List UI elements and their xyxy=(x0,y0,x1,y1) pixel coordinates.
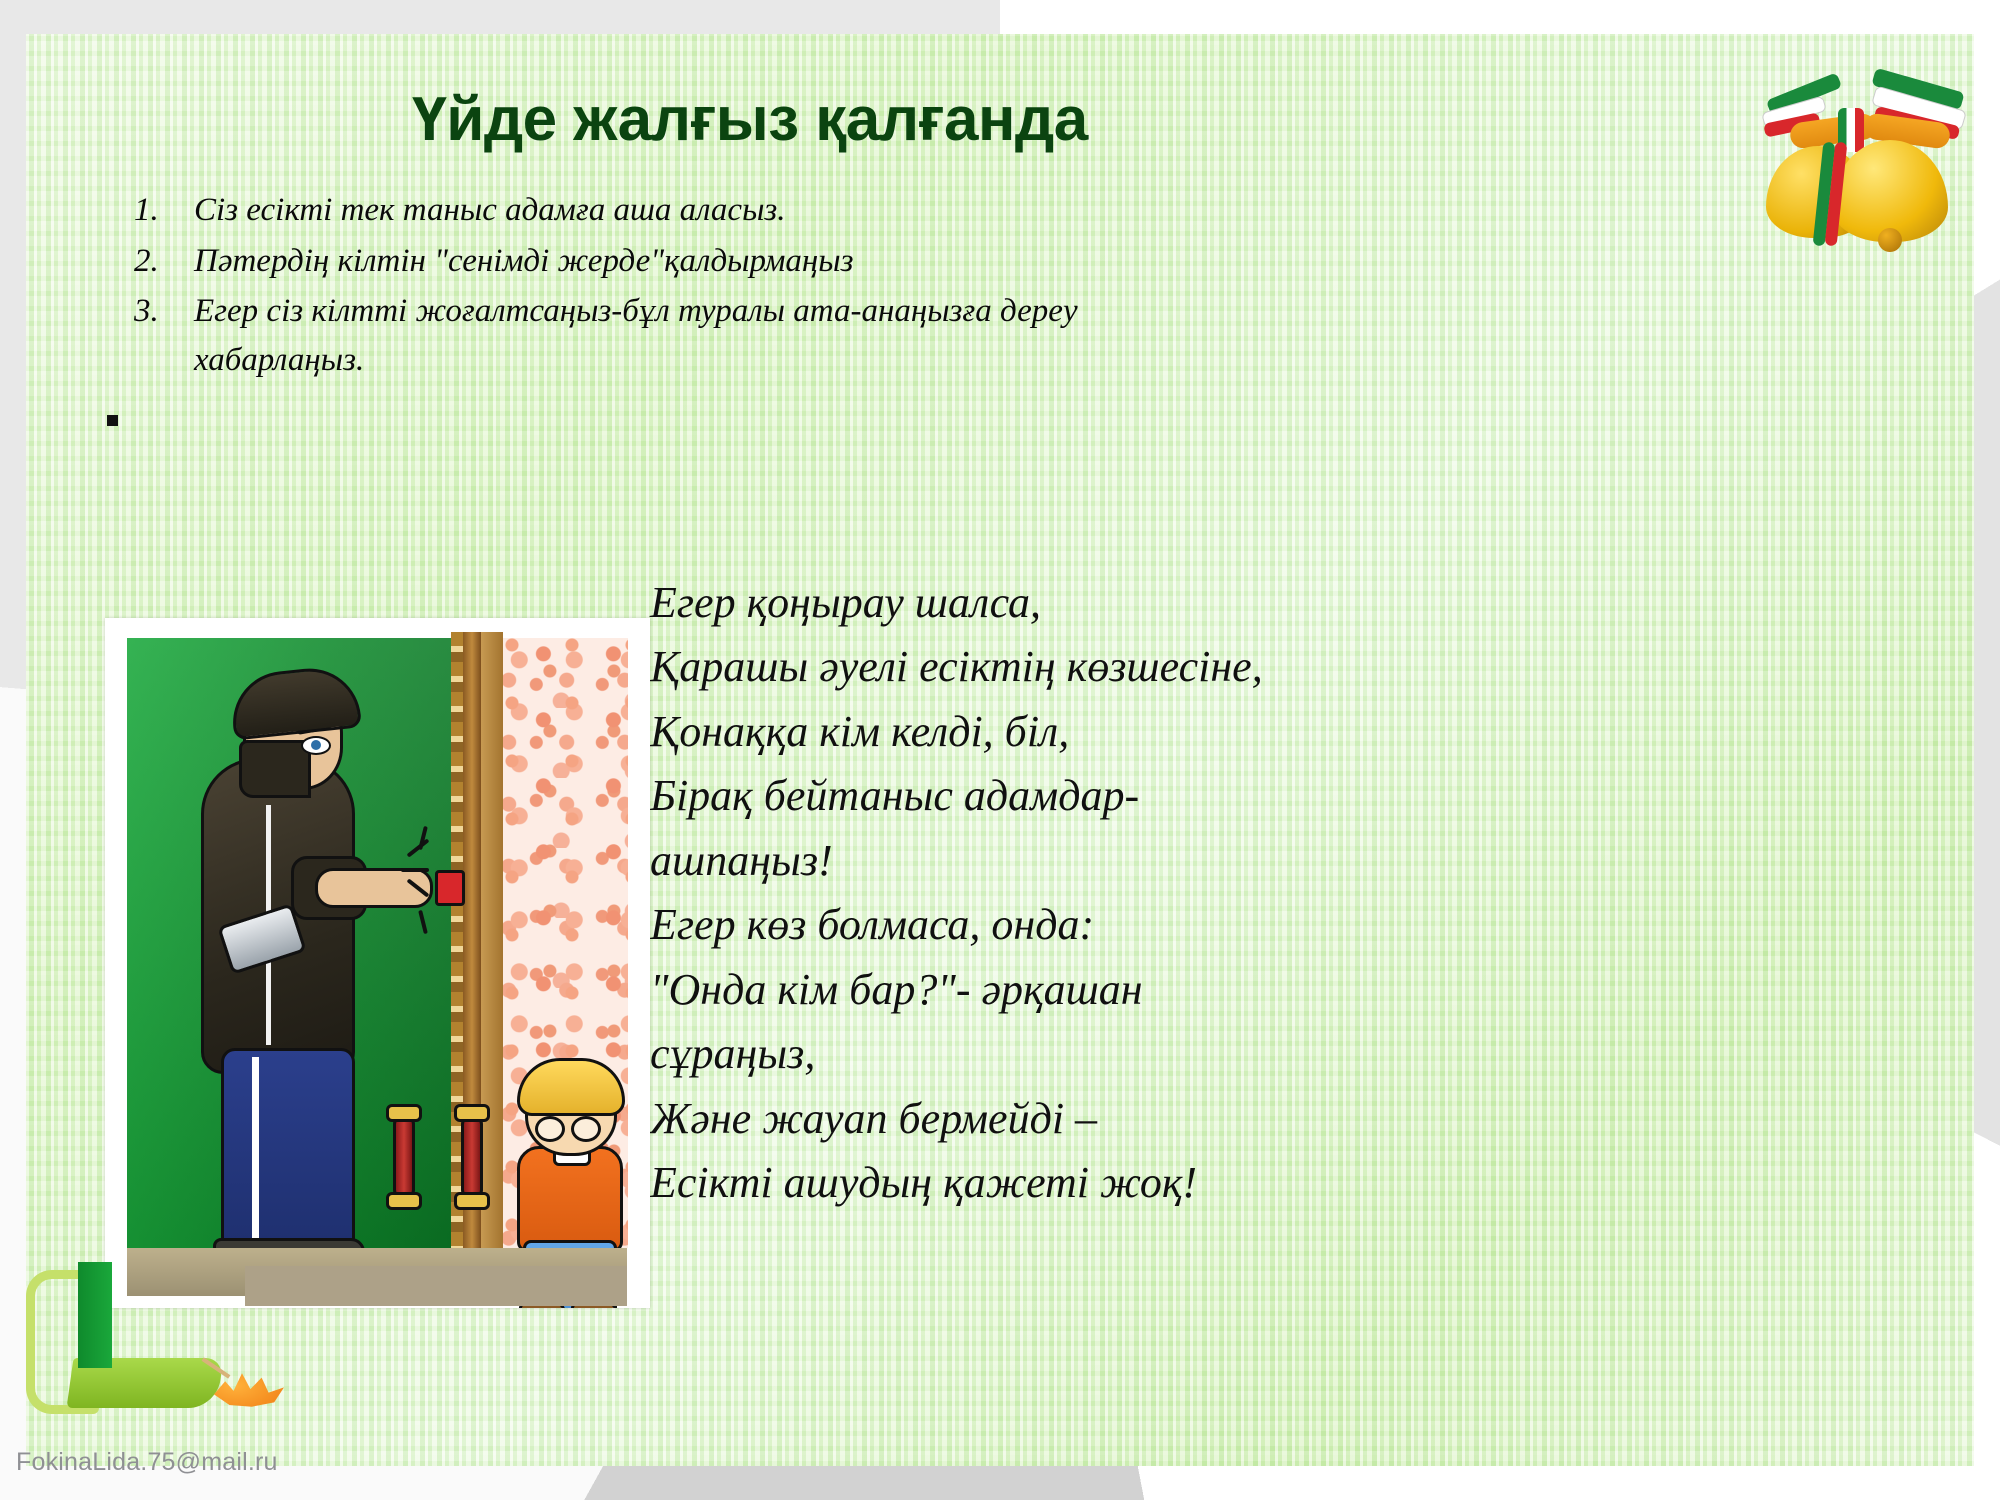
list-item-number: 1. xyxy=(128,186,194,235)
stranger-at-door-illustration xyxy=(105,618,650,1308)
rules-list: 1. Сіз есікті тек таныс адамға аша аласы… xyxy=(128,186,1128,386)
list-item-text: Сіз есікті тек таныс адамға аша аласыз. xyxy=(194,186,1128,235)
poem-line: ашпаңыз! xyxy=(650,830,1450,892)
list-item: 2. Пәтердің кілтін "сенімді жерде"қалдыр… xyxy=(128,237,1128,286)
handle-bracket xyxy=(454,1104,490,1122)
door-handle-outer xyxy=(393,1116,415,1198)
list-item: 1. Сіз есікті тек таныс адамға аша аласы… xyxy=(128,186,1128,235)
slide-canvas: Үйде жалғыз қалғанда 1. Сіз есікті тек т… xyxy=(0,0,2000,1500)
page-title: Үйде жалғыз қалғанда xyxy=(300,84,1200,155)
boy-hair xyxy=(517,1058,625,1116)
poem-text: Егер қоңырау шалса, Қарашы әуелі есіктің… xyxy=(650,572,1450,1217)
handle-bracket xyxy=(386,1104,422,1122)
trouser-stripe xyxy=(252,1057,259,1249)
bullet-dot-marker xyxy=(107,415,118,426)
poem-line: "Онда кім бар?"- әрқашан xyxy=(650,959,1450,1021)
leaf-stem xyxy=(202,1357,231,1378)
book-spine xyxy=(78,1262,112,1368)
poem-line: Қонаққа кім келді, біл, xyxy=(650,701,1450,763)
list-item-number: 3. xyxy=(128,287,194,336)
school-bells-clipart xyxy=(1760,42,1986,257)
floor-step-lower xyxy=(245,1266,627,1306)
poem-line: Есікті ашудың қажеті жоқ! xyxy=(650,1152,1450,1214)
stranger-eye xyxy=(301,736,331,755)
poem-line: Егер қоңырау шалса, xyxy=(650,572,1450,634)
poem-line: Егер көз болмаса, онда: xyxy=(650,894,1450,956)
handle-bracket xyxy=(454,1192,490,1210)
bell-clapper xyxy=(1878,228,1902,252)
watermark-email: FokinaLida.75@mail.ru xyxy=(16,1448,278,1477)
handle-bracket xyxy=(386,1192,422,1210)
stranger-legs xyxy=(221,1048,355,1260)
poem-line: Бірақ бейтаныс адамдар- xyxy=(650,765,1450,827)
poem-line: Қарашы әуелі есіктің көзшесіне, xyxy=(650,636,1450,698)
stranger-mask xyxy=(239,740,311,798)
bell-right xyxy=(1832,140,1948,242)
boy-glasses-left xyxy=(535,1116,565,1142)
maple-leaf-clipart xyxy=(196,1356,292,1432)
list-item-number: 2. xyxy=(128,237,194,286)
red-doorbell-button xyxy=(435,870,465,906)
poem-line: сұраңыз, xyxy=(650,1023,1450,1085)
poem-line: Және жауап бермейді – xyxy=(650,1088,1450,1150)
door-panel xyxy=(481,632,503,1252)
door-handle-inner xyxy=(461,1116,483,1198)
boy-glasses-right xyxy=(571,1116,601,1142)
list-item: 3. Егер сіз кілтті жоғалтсаңыз-бұл турал… xyxy=(128,287,1128,384)
list-item-text: Пәтердің кілтін "сенімді жерде"қалдырмаң… xyxy=(194,237,1128,286)
list-item-text: Егер сіз кілтті жоғалтсаңыз-бұл туралы а… xyxy=(194,287,1128,384)
doorbell-spark xyxy=(401,868,429,872)
